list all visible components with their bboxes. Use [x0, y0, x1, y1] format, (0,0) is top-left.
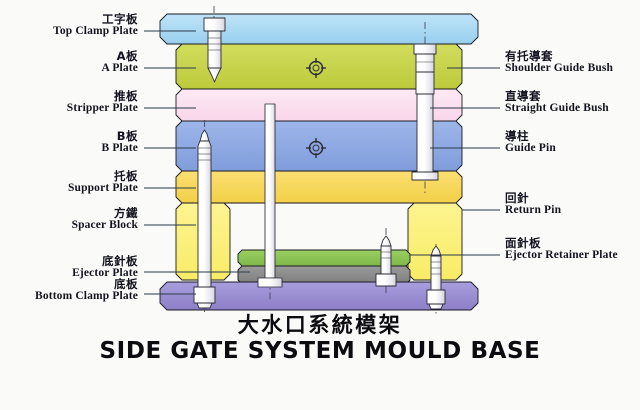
label-shoulder-guide-bush: 有托導套 Shoulder Guide Bush — [505, 51, 613, 75]
label-bottom-clamp-plate: 底板 Bottom Clamp Plate — [0, 279, 138, 303]
label-a-plate: A板 A Plate — [0, 51, 138, 75]
label-ejector-retainer-plate: 面針板 Ejector Retainer Plate — [505, 238, 618, 262]
label-en: Spacer Block — [0, 220, 138, 232]
label-en: Top Clamp Plate — [0, 26, 138, 38]
label-en: Guide Pin — [505, 143, 556, 155]
label-straight-guide-bush: 直導套 Straight Guide Bush — [505, 91, 609, 115]
label-en: Ejector Retainer Plate — [505, 250, 618, 262]
diagram-root: 工字板 Top Clamp Plate A板 A Plate 推板 Stripp… — [0, 0, 640, 410]
label-top-clamp-plate: 工字板 Top Clamp Plate — [0, 14, 138, 38]
label-en: Stripper Plate — [0, 103, 138, 115]
title-chinese: 大水口系統模架 — [0, 313, 640, 337]
label-en: Support Plate — [0, 183, 138, 195]
label-en: Shoulder Guide Bush — [505, 63, 613, 75]
title-english: SIDE GATE SYSTEM MOULD BASE — [0, 338, 640, 366]
label-en: A Plate — [0, 63, 138, 75]
label-support-plate: 托板 Support Plate — [0, 171, 138, 195]
label-stripper-plate: 推板 Stripper Plate — [0, 91, 138, 115]
diagram-title: 大水口系統模架 SIDE GATE SYSTEM MOULD BASE — [0, 313, 640, 366]
label-en: Bottom Clamp Plate — [0, 291, 138, 303]
label-en: Return Pin — [505, 205, 561, 217]
label-en: Straight Guide Bush — [505, 103, 609, 115]
label-guide-pin: 導柱 Guide Pin — [505, 131, 556, 155]
label-return-pin: 回針 Return Pin — [505, 193, 561, 217]
label-b-plate: B板 B Plate — [0, 131, 138, 155]
label-spacer-block: 方鐵 Spacer Block — [0, 208, 138, 232]
label-en: B Plate — [0, 143, 138, 155]
